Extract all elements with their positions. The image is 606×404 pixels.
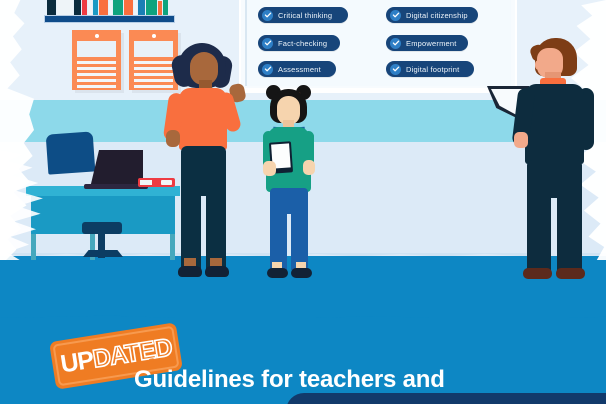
student-hand xyxy=(303,160,315,175)
topic-pill-label: Digital citizenship xyxy=(406,11,468,20)
visitor-hand xyxy=(514,132,528,148)
topic-pill-empowerment[interactable]: Empowerment xyxy=(386,35,468,51)
poster-pin-icon xyxy=(95,34,99,38)
check-icon xyxy=(262,64,273,75)
topic-pill-label: Empowerment xyxy=(406,39,457,48)
topic-pill-fact-checking[interactable]: Fact-checking xyxy=(258,35,340,51)
topic-pill-critical-thinking[interactable]: Critical thinking xyxy=(258,7,348,23)
book xyxy=(146,0,157,15)
book xyxy=(113,0,123,15)
topic-pill-label: Assessment xyxy=(278,65,321,74)
check-icon xyxy=(390,10,401,21)
wall-poster-right xyxy=(129,30,178,90)
banner-headline: Guidelines for teachers and xyxy=(134,366,445,394)
topic-pill-label: Fact-checking xyxy=(278,39,327,48)
chair-backrest xyxy=(46,131,96,174)
book xyxy=(47,0,56,15)
banner-navy-shape xyxy=(286,393,606,404)
book xyxy=(93,0,98,15)
visitor-shoe xyxy=(523,268,552,279)
desk-leg xyxy=(31,234,36,260)
chair-base xyxy=(83,250,123,257)
book xyxy=(138,0,145,15)
poster-pin-icon xyxy=(152,34,156,38)
book xyxy=(99,0,108,15)
bookshelf xyxy=(44,15,175,23)
book xyxy=(158,1,162,15)
topic-pill-label: Critical thinking xyxy=(278,11,332,20)
book xyxy=(88,0,92,15)
desk-folder xyxy=(138,178,175,187)
book xyxy=(109,1,112,15)
poster-image-block xyxy=(77,41,116,57)
teacher-hand xyxy=(166,130,180,147)
stamp-text-up: UP xyxy=(59,347,95,377)
topic-pill-digital-citizenship[interactable]: Digital citizenship xyxy=(386,7,478,23)
student-shoe xyxy=(267,268,288,278)
student-hand xyxy=(263,161,276,176)
check-icon xyxy=(262,10,273,21)
laptop-screen xyxy=(90,150,143,188)
illustration-canvas: Critical thinkingDigital citizenshipFact… xyxy=(0,0,606,404)
teacher-shoe xyxy=(178,266,202,277)
check-icon xyxy=(390,64,401,75)
check-icon xyxy=(390,38,401,49)
topic-pill-label: Digital footprint xyxy=(406,65,459,74)
teacher-shoe xyxy=(205,266,229,277)
book xyxy=(124,0,133,15)
book xyxy=(74,0,81,15)
book xyxy=(82,0,87,15)
poster-image-block xyxy=(134,41,173,57)
desk-leg xyxy=(170,234,175,260)
student-shoe xyxy=(291,268,312,278)
topic-pill-digital-footprint[interactable]: Digital footprint xyxy=(386,61,474,77)
book xyxy=(134,0,137,15)
check-icon xyxy=(262,38,273,49)
teacher-shirt xyxy=(179,88,227,150)
book xyxy=(163,0,168,15)
visitor-shoe xyxy=(556,268,585,279)
wall-poster-left xyxy=(72,30,121,90)
topic-pill-assessment[interactable]: Assessment xyxy=(258,61,336,77)
book xyxy=(57,0,73,15)
